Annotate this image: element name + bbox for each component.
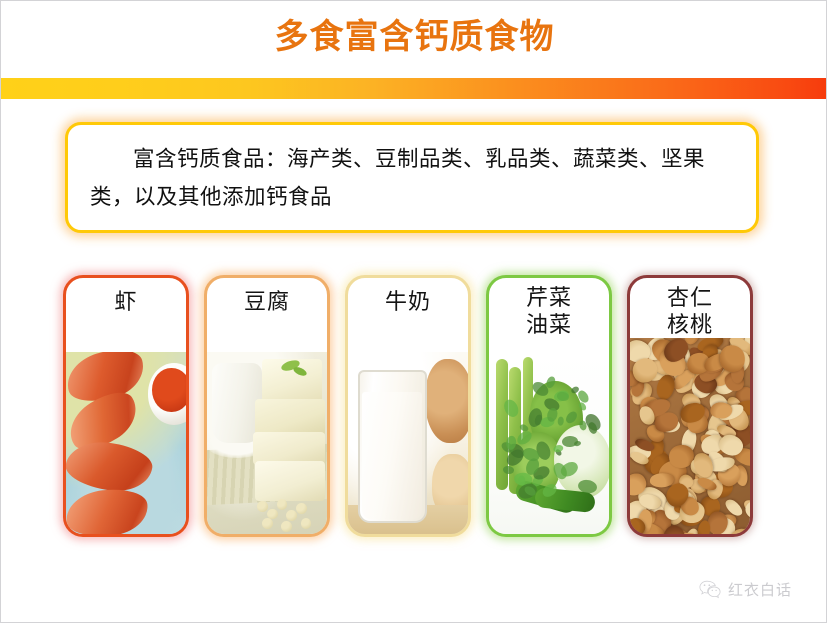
wechat-icon	[699, 580, 721, 599]
food-card-tofu[interactable]: 豆腐	[204, 275, 330, 537]
vegetables-photo	[489, 352, 609, 534]
milk-photo	[348, 352, 468, 534]
food-card-nuts[interactable]: 杏仁 核桃	[627, 275, 753, 537]
food-card-label: 芹菜 油菜	[489, 278, 609, 340]
food-card-milk[interactable]: 牛奶	[345, 275, 471, 537]
slide-canvas: 多食富含钙质食物 富含钙质食品：海产类、豆制品类、乳品类、蔬菜类、坚果类，以及其…	[0, 0, 827, 623]
watermark: 红衣白话	[699, 579, 792, 600]
watermark-text: 红衣白话	[728, 579, 792, 600]
page-title: 多食富含钙质食物	[1, 17, 827, 58]
nuts-photo	[630, 338, 750, 534]
food-card-label-line1: 杏仁	[630, 286, 750, 313]
food-card-shrimp[interactable]: 虾	[63, 275, 189, 537]
food-card-label-line1: 芹菜	[489, 286, 609, 313]
food-card-label: 杏仁 核桃	[630, 278, 750, 340]
callout-text: 富含钙质食品：海产类、豆制品类、乳品类、蔬菜类、坚果类，以及其他添加钙食品	[90, 141, 734, 216]
tofu-photo	[207, 352, 327, 534]
gradient-divider	[0, 78, 827, 99]
food-card-row: 虾 豆腐	[63, 275, 763, 539]
food-card-label-line2: 核桃	[630, 313, 750, 340]
food-card-label-line2: 油菜	[489, 313, 609, 340]
shrimp-photo	[66, 352, 186, 534]
food-card-vegetables[interactable]: 芹菜 油菜	[486, 275, 612, 537]
food-card-label: 豆腐	[207, 278, 327, 317]
callout-box: 富含钙质食品：海产类、豆制品类、乳品类、蔬菜类、坚果类，以及其他添加钙食品	[65, 122, 759, 233]
food-card-label: 虾	[66, 278, 186, 317]
food-card-label: 牛奶	[348, 278, 468, 317]
